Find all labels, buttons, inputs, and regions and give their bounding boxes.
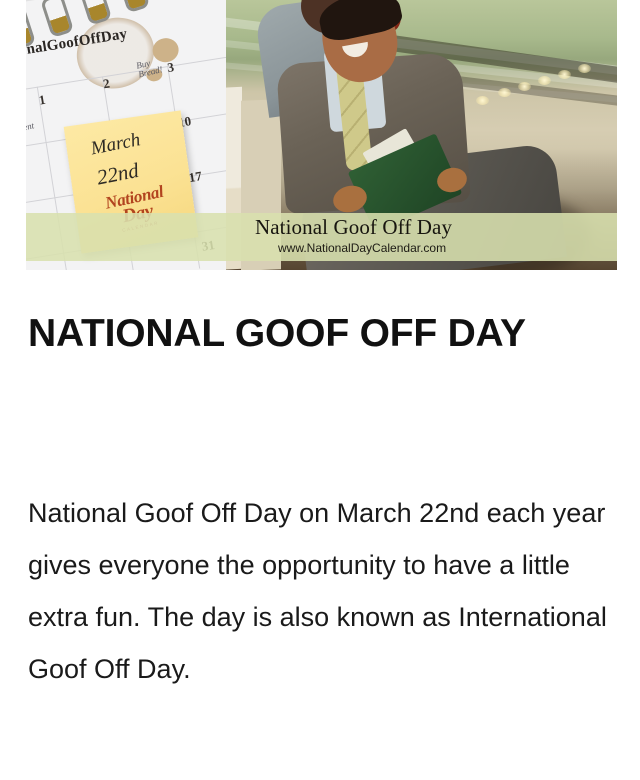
- binding-ring: [40, 0, 74, 38]
- binding-ring: [116, 0, 150, 13]
- binding-ring: [26, 5, 36, 50]
- page-title: NATIONAL GOOF OFF DAY: [28, 310, 588, 358]
- sticky-note-date: 22nd: [95, 158, 141, 191]
- article-body: National Goof Off Day on March 22nd each…: [28, 487, 610, 695]
- hero-image: #NationalGoofOffDay 1 2 3 7 10 14 17 31 …: [26, 0, 617, 270]
- binding-ring: [78, 0, 112, 26]
- calendar-day-number: 3: [166, 59, 175, 76]
- sticky-note-month: March: [89, 129, 142, 160]
- caption-url: www.NationalDayCalendar.com: [278, 241, 446, 255]
- caption-title: National Goof Off Day: [255, 215, 452, 240]
